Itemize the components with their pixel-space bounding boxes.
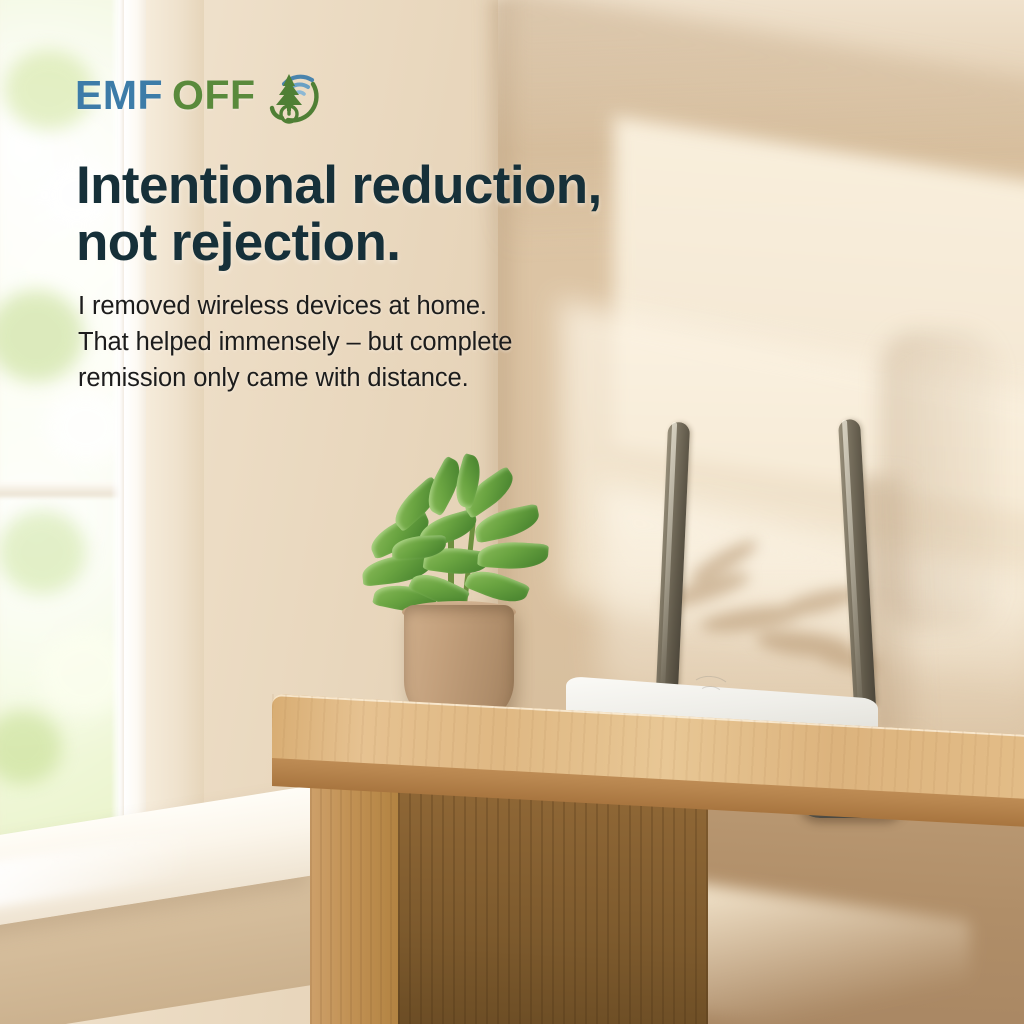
brand-wordmark-off: OFF [172,72,255,118]
headline-line-1: Intentional reduction, [76,158,716,215]
plant-leaf [477,540,549,572]
brand-wordmark-emf: EMF [75,72,163,118]
headline: Intentional reduction, not rejection. [76,158,716,271]
subcopy-line-3: remission only came with distance. [78,360,638,396]
desk-leg [310,770,406,1024]
pine-tree-wifi-power-icon [258,64,320,126]
subcopy: I removed wireless devices at home. That… [78,288,638,397]
desk-back-panel [398,784,708,1024]
foliage-bokeh [0,510,86,594]
window-reveal [146,0,204,860]
window [0,0,194,890]
window-muntin-bar [0,482,128,497]
subcopy-line-1: I removed wireless devices at home. [78,288,638,324]
brand-wordmark: EMFOFF [75,75,256,116]
subcopy-line-2: That helped immensely – but complete [78,324,638,360]
social-post-canvas: EMFOFF [0,0,1024,1024]
headline-line-2: not rejection. [76,215,716,272]
brand-logo[interactable]: EMFOFF [75,64,320,126]
router-antenna-left [656,422,690,691]
